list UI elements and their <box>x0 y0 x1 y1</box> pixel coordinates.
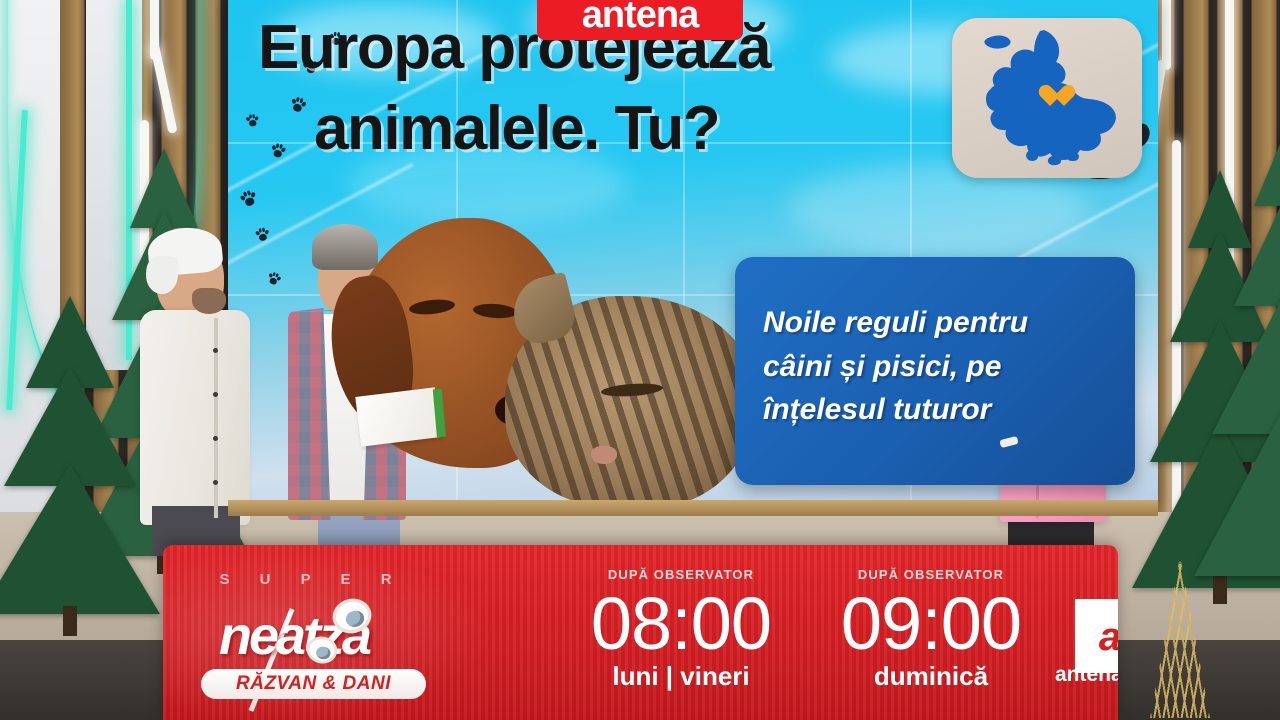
schedule-slot-weekday: DUPĂ OBSERVATOR 08:00 luni | vineri <box>556 567 806 692</box>
subtitle-panel: Noile reguli pentru câini și pisici, pe … <box>735 257 1135 485</box>
slot-label: DUPĂ OBSERVATOR <box>806 567 1056 582</box>
shirt-button <box>213 392 218 397</box>
tv-broadcast-frame: Europa protejează animalele. Tu? antena <box>0 0 1280 720</box>
watch-on-label: VEZI PE <box>1041 567 1118 587</box>
paw-print-small <box>266 270 282 286</box>
slot-days: duminică <box>806 661 1056 692</box>
europe-map-card <box>952 18 1142 178</box>
antena-play-wordmark: antenaPLAY <box>1055 663 1118 687</box>
antena-logo-text: antena <box>582 0 698 36</box>
show-logo-super: S U P E R <box>217 571 407 588</box>
antena-play-icon[interactable]: a <box>1075 599 1118 673</box>
christmas-tree-right-front <box>1195 120 1280 590</box>
dog-and-cat-photo <box>345 218 745 508</box>
beard <box>192 288 226 314</box>
shirt-button <box>213 348 218 353</box>
antena-channel-logo: antena <box>537 0 743 40</box>
cue-cards <box>355 387 440 446</box>
cat-eye <box>601 382 664 398</box>
white-shirt <box>140 310 250 525</box>
antena-play-bold: antena <box>1055 663 1118 686</box>
dog-eye-right <box>473 302 518 319</box>
show-hosts-plate: RĂZVAN & DANI <box>201 669 426 699</box>
watch-on-block: VEZI PE a a antenaPLAY <box>1041 567 1118 681</box>
antena-play-letter: a <box>1093 617 1118 661</box>
heart-icon <box>1050 86 1076 110</box>
shirt-button <box>213 480 218 485</box>
paw-print-small <box>254 226 269 241</box>
slot-time: 09:00 <box>806 588 1056 659</box>
slot-label: DUPĂ OBSERVATOR <box>556 567 806 582</box>
show-logo: S U P E R neatza ® RĂZVAN & DANI <box>187 557 437 707</box>
cat-nose <box>591 446 617 464</box>
headline-line-2: animalele. Tu? <box>314 99 878 160</box>
schedule-slot-sunday: DUPĂ OBSERVATOR 09:00 duminică <box>806 567 1056 692</box>
subtitle-text: Noile reguli pentru câini și pisici, pe … <box>763 301 1133 432</box>
cat-image <box>505 296 755 508</box>
paw-print-small <box>245 113 259 127</box>
video-wall-base-trim <box>228 500 1158 516</box>
slot-time: 08:00 <box>556 588 806 659</box>
slot-days: luni | vineri <box>556 661 806 692</box>
shirt-button <box>213 436 218 441</box>
dog-eye-left <box>408 298 455 317</box>
schedule-banner: S U P E R neatza ® RĂZVAN & DANI DUPĂ OB… <box>163 545 1118 720</box>
show-hosts-text: RĂZVAN & DANI <box>236 673 391 695</box>
